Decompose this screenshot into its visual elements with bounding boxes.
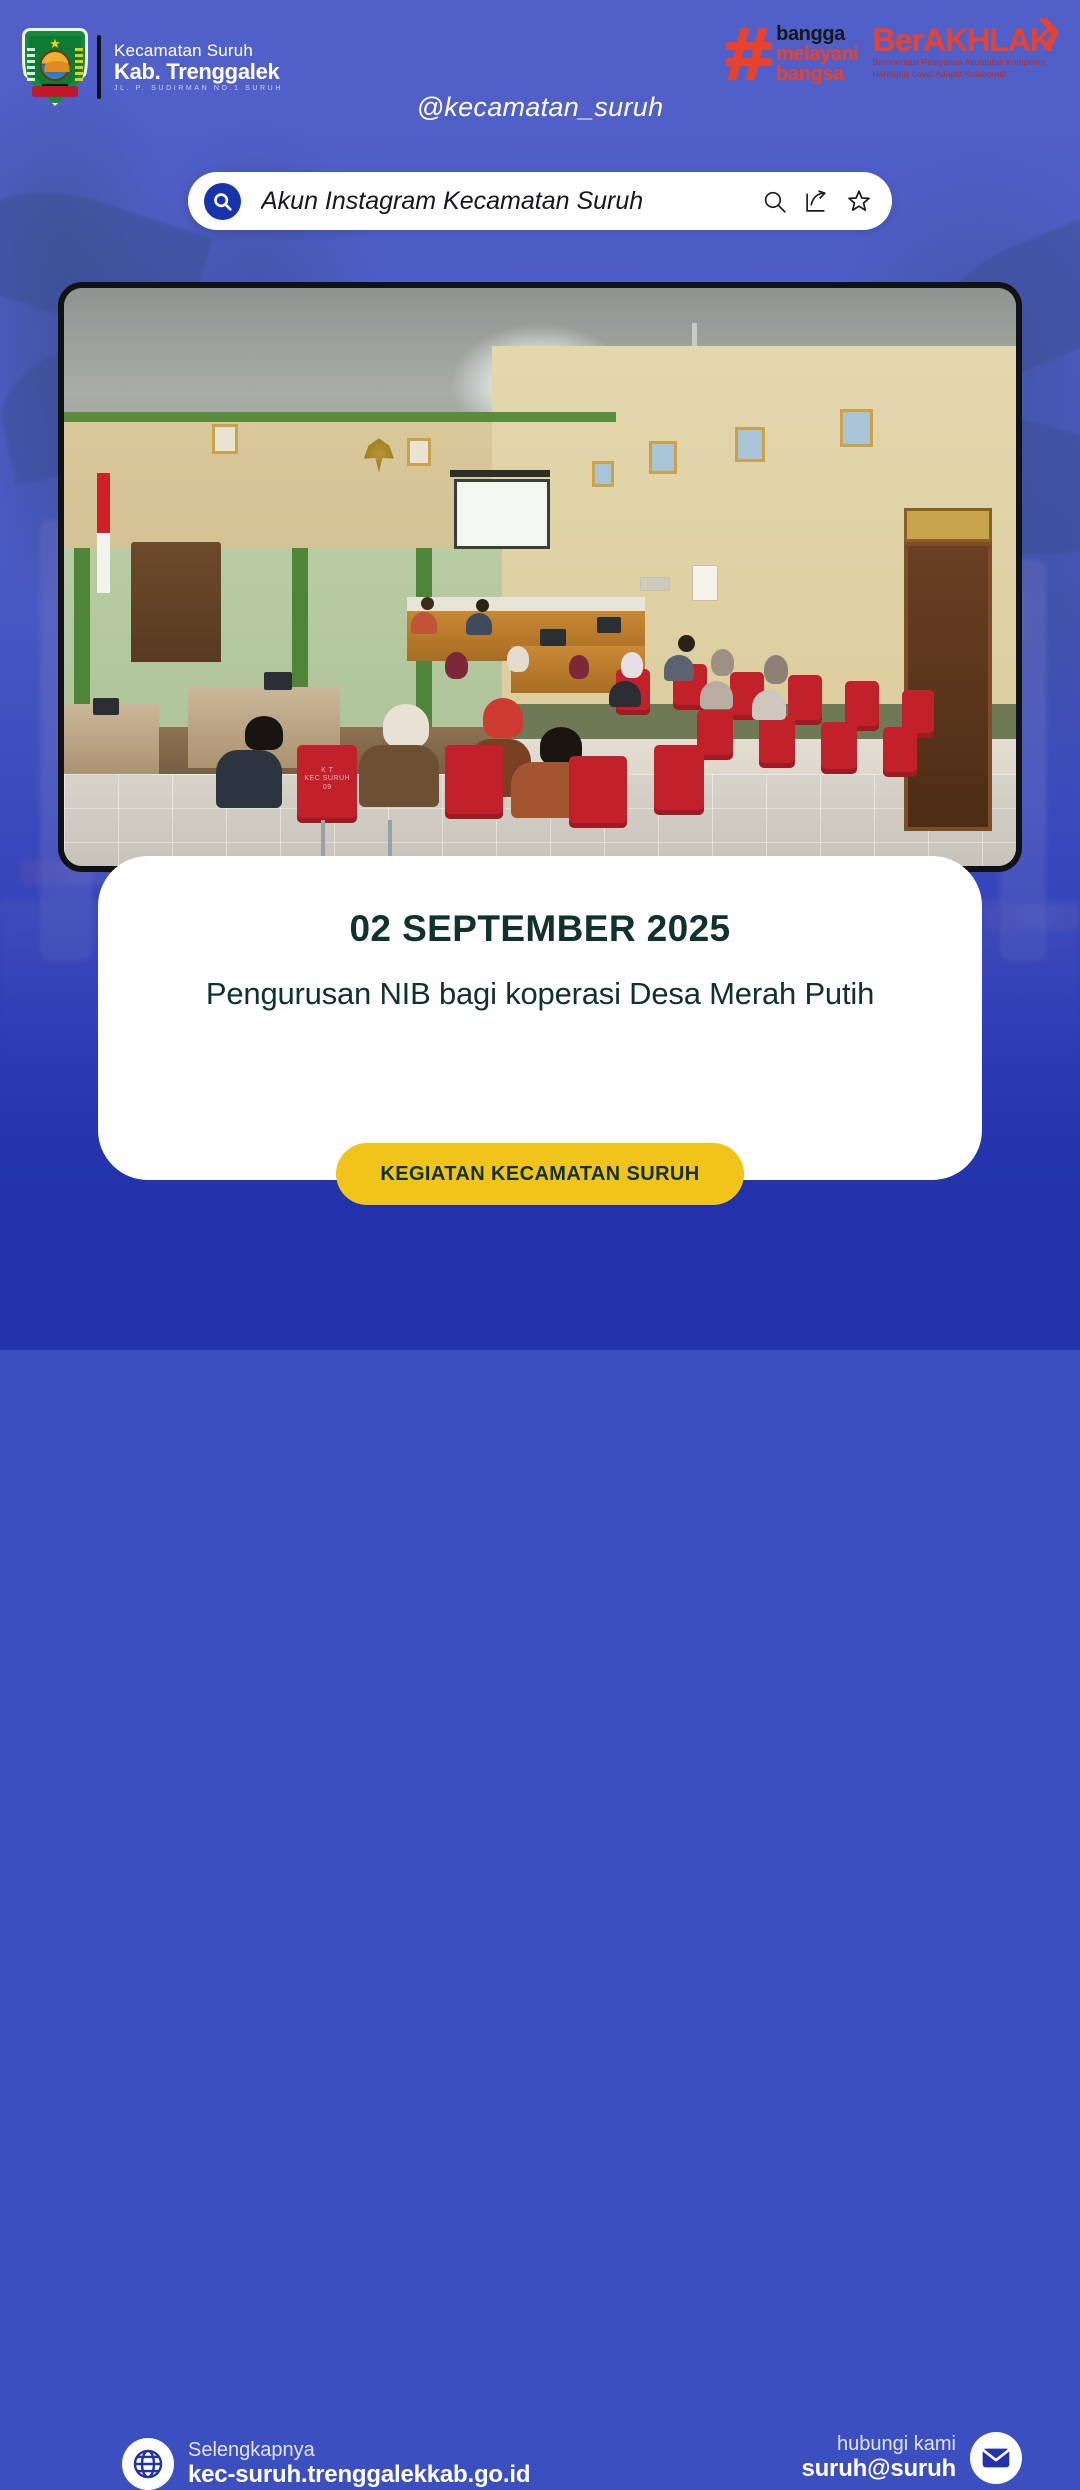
search-icon[interactable] — [762, 189, 787, 214]
event-description: Pengurusan NIB bagi koperasi Desa Merah … — [98, 974, 982, 1014]
website-contact[interactable]: Selengkapnya kec-suruh.trenggalekkab.go.… — [122, 2438, 530, 2490]
email-label: hubungi kami — [801, 2433, 956, 2455]
berakhlak-subtitle-1: Berorientasi Pelayanan Akuntabel Kompete… — [873, 57, 1052, 68]
globe-icon — [122, 2438, 174, 2490]
berakhlak-title: BerAKHLAK — [873, 24, 1052, 56]
share-icon[interactable] — [804, 189, 829, 214]
office-address: JL. P. SUDIRMAN NO.1 SURUH — [114, 85, 283, 92]
search-icon[interactable] — [204, 183, 241, 220]
envelope-icon — [970, 2432, 1022, 2484]
district-name: Kecamatan Suruh — [114, 42, 283, 60]
bangga-line-2: melayani — [776, 44, 858, 64]
footer: Selengkapnya kec-suruh.trenggalekkab.go.… — [0, 1210, 1080, 1350]
instagram-handle: @kecamatan_suruh — [0, 92, 1080, 123]
search-actions — [762, 188, 872, 214]
chair-label: K T KEC SURUH 09 — [297, 767, 357, 793]
hashtag-icon — [726, 28, 772, 80]
star-icon[interactable] — [846, 188, 872, 214]
email-address[interactable]: suruh@suruh — [801, 2456, 956, 2483]
event-date: 02 SEPTEMBER 2025 — [98, 908, 982, 950]
search-input[interactable]: Akun Instagram Kecamatan Suruh — [261, 187, 762, 216]
event-photo: K T KEC SURUH 09 — [58, 282, 1022, 872]
berakhlak-badge: BerAKHLAK ❯ Berorientasi Pelayanan Akunt… — [873, 24, 1056, 79]
cta-button[interactable]: KEGIATAN KECAMATAN SURUH — [336, 1143, 744, 1205]
website-label: Selengkapnya — [188, 2439, 530, 2461]
search-bar[interactable]: Akun Instagram Kecamatan Suruh — [188, 172, 892, 230]
program-badges: bangga melayani bangsa BerAKHLAK ❯ Beror… — [726, 24, 1056, 84]
website-url[interactable]: kec-suruh.trenggalekkab.go.id — [188, 2462, 530, 2489]
header-divider — [97, 35, 101, 99]
event-info-card: 02 SEPTEMBER 2025 Pengurusan NIB bagi ko… — [98, 856, 982, 1180]
email-contact[interactable]: hubungi kami suruh@suruh — [801, 2432, 1022, 2484]
bangga-line-1: bangga — [776, 24, 858, 44]
bangga-line-3: bangsa — [776, 64, 858, 84]
bangga-melayani-bangsa-badge: bangga melayani bangsa — [726, 24, 858, 84]
regency-name: Kab. Trenggalek — [114, 60, 283, 83]
header: ★ Kecamatan Suruh Kab. Trenggalek JL. P.… — [0, 0, 1080, 150]
chevron-right-icon: ❯ — [1035, 12, 1065, 50]
berakhlak-subtitle-2: Harmonis Loyal Adaptif Kolaboratif — [873, 69, 1052, 80]
